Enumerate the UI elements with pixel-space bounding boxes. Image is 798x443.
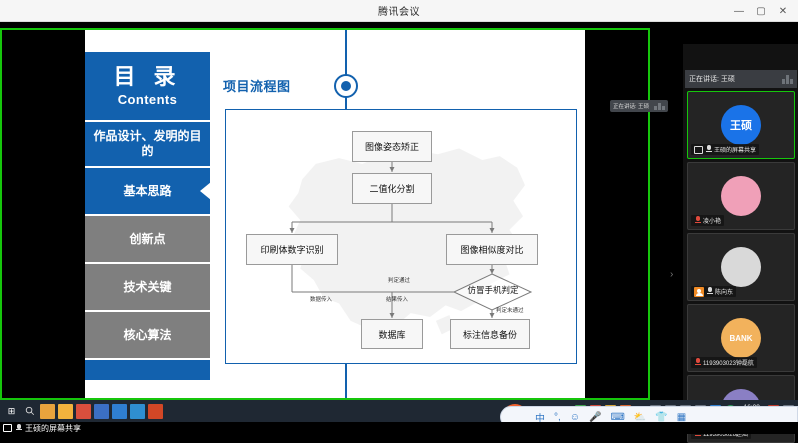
panel-expand-chevron-icon[interactable]: › bbox=[670, 269, 673, 280]
music-app-icon[interactable] bbox=[94, 404, 109, 419]
participant-name-2: 陈向东 bbox=[715, 287, 733, 296]
slide-table-of-contents: 目 录 Contents 作品设计、发明的目的 基本思路 创新点 技术关键 核心… bbox=[85, 52, 210, 398]
toc-item-0: 作品设计、发明的目的 bbox=[85, 120, 210, 166]
participants-panel: 正在讲话: 王硕 › 王硕 王硕的屏幕共享 凌小艳 bbox=[683, 44, 798, 422]
floating-speaker-label: 正在讲话: 王硕 bbox=[613, 102, 649, 110]
flow-node-6-label: 标注信息备份 bbox=[463, 328, 517, 341]
active-speaker-label: 正在讲话: 王硕 bbox=[689, 74, 735, 84]
toc-heading-cn: 目 录 bbox=[113, 66, 181, 88]
participant-name-1: 凌小艳 bbox=[703, 216, 721, 225]
flow-node-5-label: 数据库 bbox=[378, 328, 405, 341]
participant-tile-3[interactable]: BANK 1193903023钟磊航 bbox=[687, 304, 795, 372]
floating-speaker-chip: 正在讲话: 王硕 bbox=[610, 100, 668, 112]
mail-icon[interactable] bbox=[112, 404, 127, 419]
close-button[interactable]: ✕ bbox=[772, 1, 794, 21]
participant-avatar-0: 王硕 bbox=[721, 105, 761, 145]
participant-avatar-3: BANK bbox=[721, 318, 761, 358]
slide-content: 项目流程图 bbox=[210, 52, 585, 398]
participant-name-3: 1193903023钟磊航 bbox=[703, 358, 754, 367]
flowchart-frame: 图像姿态矫正 二值化分割 印刷体数字识别 图像相似度对比 仿冒手机判定 数据库 bbox=[225, 109, 577, 364]
flow-node-image-similarity-compare: 图像相似度对比 bbox=[446, 234, 538, 265]
flow-edge-label-pass: 判定通过 bbox=[388, 276, 410, 284]
screen-share-icon bbox=[694, 146, 703, 154]
toc-heading-en: Contents bbox=[118, 92, 178, 107]
mic-muted-icon bbox=[694, 358, 701, 367]
participant-tile-0[interactable]: 王硕 王硕的屏幕共享 bbox=[687, 91, 795, 159]
participant-name-chip-1: 凌小艳 bbox=[691, 215, 724, 226]
mic-on-icon bbox=[706, 287, 713, 296]
window-title: 腾讯会议 bbox=[378, 3, 420, 18]
toc-item-1-label: 基本思路 bbox=[123, 184, 171, 199]
participant-avatar-1 bbox=[721, 176, 761, 216]
share-monitor-icon bbox=[3, 424, 12, 432]
ime-skin-icon[interactable]: 👕 bbox=[655, 412, 667, 423]
ime-emoji-icon[interactable]: ☺ bbox=[570, 412, 580, 423]
participant-name-chip-2: 陈向东 bbox=[691, 286, 736, 297]
window-controls: — ▢ ✕ bbox=[728, 0, 794, 22]
participant-tile-2[interactable]: 陈向东 bbox=[687, 233, 795, 301]
file-explorer-icon[interactable] bbox=[58, 404, 73, 419]
participant-tile-1[interactable]: 凌小艳 bbox=[687, 162, 795, 230]
flow-node-image-pose-correction: 图像姿态矫正 bbox=[352, 131, 432, 162]
taskbar-left-icons: ⊞ bbox=[0, 404, 163, 419]
participant-name-chip-0: 王硕的屏幕共享 bbox=[691, 144, 759, 155]
participant-avatar-3-text: BANK bbox=[729, 334, 752, 343]
flow-node-3-label: 图像相似度对比 bbox=[460, 243, 523, 256]
slide-content-title: 项目流程图 bbox=[223, 76, 291, 95]
flow-node-printed-digit-recognition: 印刷体数字识别 bbox=[246, 234, 338, 265]
toc-item-1: 基本思路 bbox=[85, 166, 210, 214]
share-border-right bbox=[648, 28, 650, 400]
ime-soft-keyboard-icon[interactable]: ⌨ bbox=[610, 412, 624, 423]
start-button-icon[interactable]: ⊞ bbox=[4, 404, 19, 419]
screen-share-status-strip: 王硕的屏幕共享 bbox=[0, 422, 798, 434]
toc-item-4: 核心算法 bbox=[85, 310, 210, 358]
flow-node-2-label: 印刷体数字识别 bbox=[260, 243, 323, 256]
toc-item-0-label: 作品设计、发明的目的 bbox=[90, 129, 205, 159]
mic-on-icon bbox=[15, 424, 22, 433]
toc-item-4-label: 核心算法 bbox=[123, 328, 171, 343]
powerpoint-icon[interactable] bbox=[148, 404, 163, 419]
slide-node-circle-icon bbox=[334, 74, 358, 98]
window-title-bar: 腾讯会议 — ▢ ✕ bbox=[0, 0, 798, 22]
flow-edge-label-fail: 判定未通过 bbox=[496, 306, 524, 314]
active-speaker-bar: 正在讲话: 王硕 bbox=[685, 70, 797, 88]
minimize-button[interactable]: — bbox=[728, 1, 750, 21]
media-player-icon[interactable] bbox=[76, 404, 91, 419]
share-border-left bbox=[0, 28, 2, 400]
mic-on-icon bbox=[705, 145, 712, 154]
toc-item-2-label: 创新点 bbox=[129, 232, 165, 247]
share-strip-label: 王硕的屏幕共享 bbox=[25, 423, 81, 434]
flow-node-4-label: 仿冒手机判定 bbox=[467, 286, 518, 296]
chrome-icon[interactable] bbox=[40, 404, 55, 419]
host-badge-icon bbox=[694, 287, 704, 297]
audio-wave-icon bbox=[654, 103, 665, 110]
mic-muted-icon bbox=[694, 216, 701, 225]
ime-toolbox-icon[interactable]: ▦ bbox=[677, 412, 686, 423]
shared-screen-area: 您正在共享屏幕 正在讲话: 王硕 目 录 Contents 作品设计、发明的目的… bbox=[0, 22, 798, 400]
flow-node-database: 数据库 bbox=[361, 319, 423, 349]
toc-item-3: 技术关键 bbox=[85, 262, 210, 310]
photos-icon[interactable] bbox=[130, 404, 145, 419]
flow-node-annotation-backup: 标注信息备份 bbox=[450, 319, 530, 349]
ime-voice-input-icon[interactable]: 🎤 bbox=[589, 412, 601, 423]
presentation-slide: 目 录 Contents 作品设计、发明的目的 基本思路 创新点 技术关键 核心… bbox=[85, 30, 585, 398]
toc-item-3-label: 技术关键 bbox=[123, 280, 171, 295]
participant-name-chip-3: 1193903023钟磊航 bbox=[691, 357, 757, 368]
flow-node-0-label: 图像姿态矫正 bbox=[365, 140, 419, 153]
toc-footer-bar bbox=[85, 358, 210, 380]
flow-edge-label-data-in: 数据传入 bbox=[310, 295, 332, 303]
search-icon[interactable] bbox=[22, 404, 37, 419]
flow-node-counterfeit-phone-decision: 仿冒手机判定 bbox=[454, 284, 532, 296]
flow-edge-label-result-in: 结果传入 bbox=[386, 295, 408, 303]
toc-header: 目 录 Contents bbox=[85, 52, 210, 120]
flow-node-binarization-segmentation: 二值化分割 bbox=[352, 173, 432, 204]
participant-name-0: 王硕的屏幕共享 bbox=[714, 145, 756, 154]
participant-avatar-0-text: 王硕 bbox=[730, 117, 752, 133]
ime-punctuation-toggle[interactable]: °, bbox=[554, 412, 561, 423]
speaker-wave-icon bbox=[782, 75, 793, 84]
toc-item-2: 创新点 bbox=[85, 214, 210, 262]
maximize-button[interactable]: ▢ bbox=[750, 1, 772, 21]
participant-avatar-2 bbox=[721, 247, 761, 287]
ime-weather-icon[interactable]: ⛅ bbox=[634, 412, 646, 423]
flow-node-1-label: 二值化分割 bbox=[369, 182, 414, 195]
